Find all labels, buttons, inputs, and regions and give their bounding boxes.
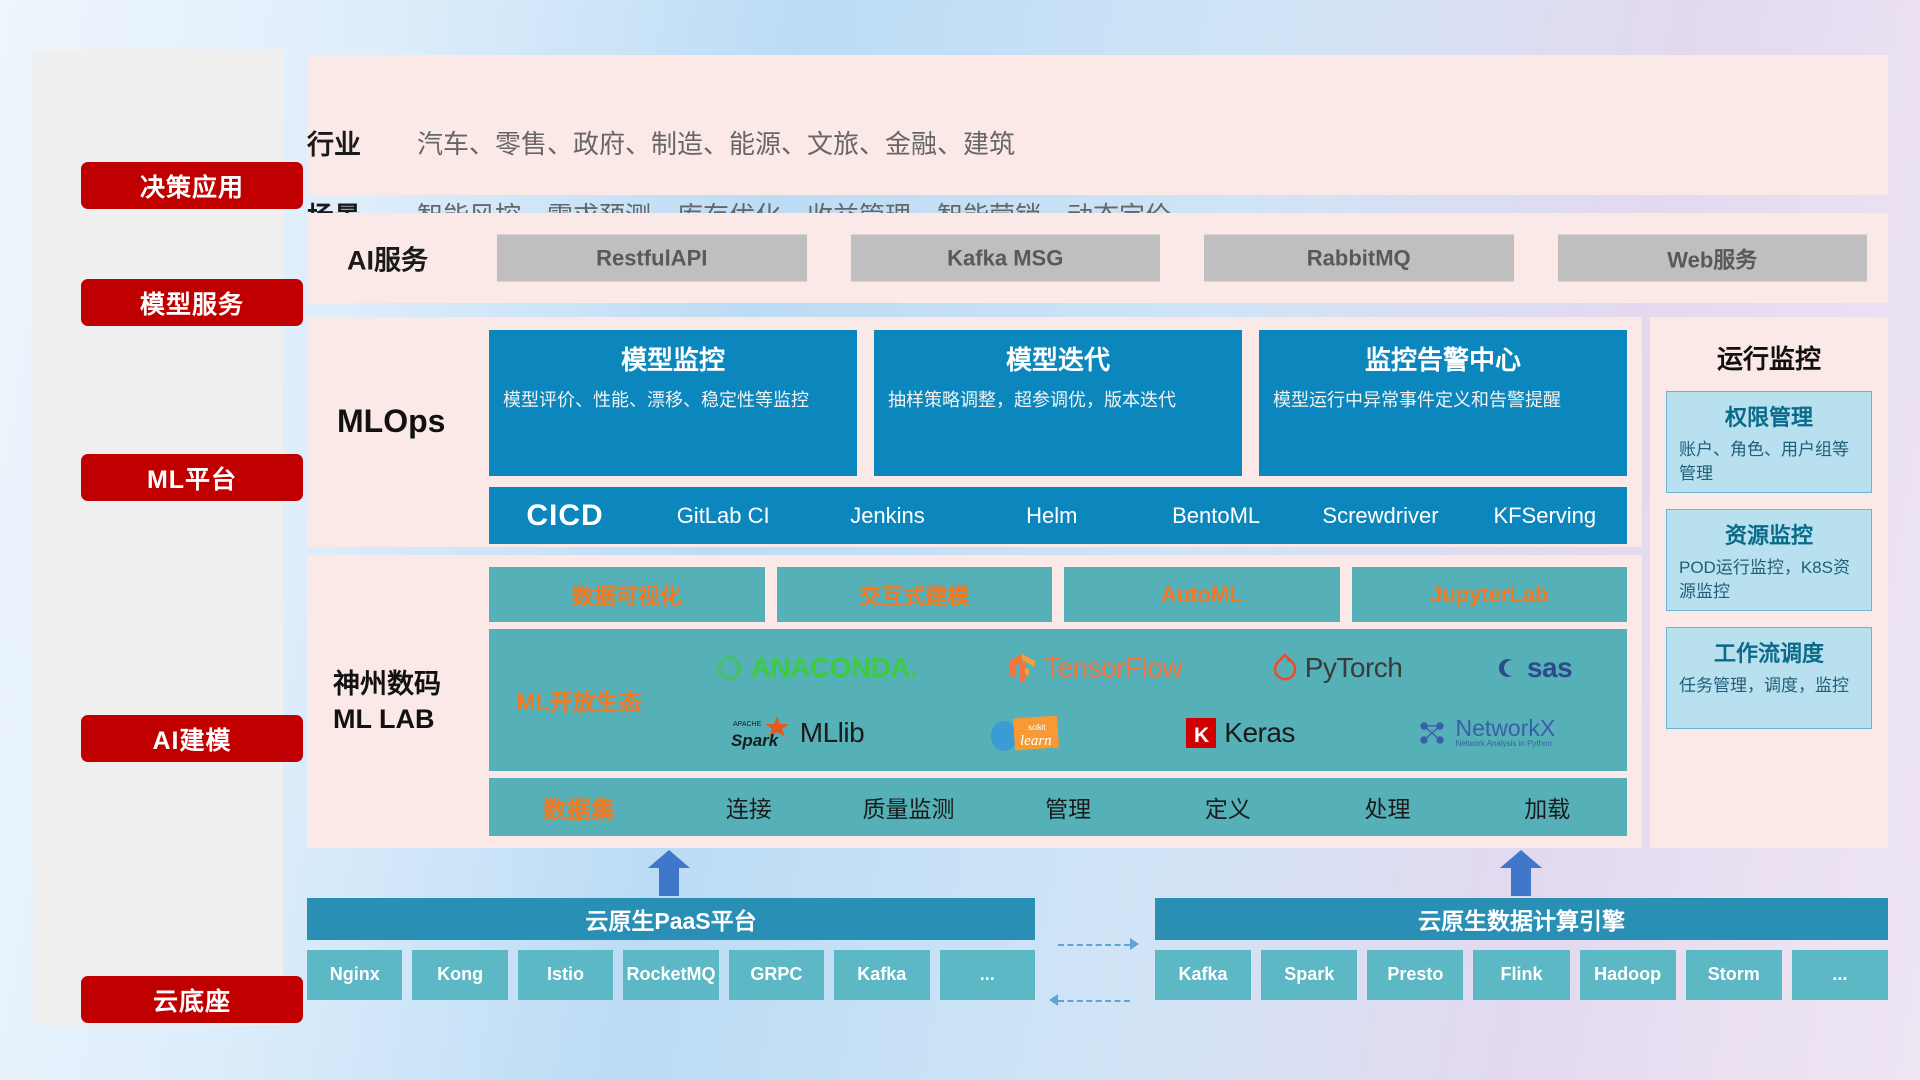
mllab-label-line2: ML LAB (333, 702, 483, 737)
cloud-chip-grpc[interactable]: GRPC (729, 950, 824, 1000)
dataset-item-load[interactable]: 加载 (1467, 790, 1627, 824)
card-title: 模型监控 (503, 340, 843, 377)
mlops-card-model-monitoring[interactable]: 模型监控 模型评价、性能、漂移、稳定性等监控 (489, 330, 857, 476)
cloud-chip-nginx[interactable]: Nginx (307, 950, 402, 1000)
card-desc: 任务管理，调度，监控 (1679, 674, 1859, 698)
card-desc: 账户、角色、用户组等管理 (1679, 438, 1859, 486)
sidebar-item-cloud-base[interactable]: 云底座 (81, 976, 303, 1023)
keras-logo: K Keras (1185, 717, 1295, 749)
card-title: 资源监控 (1679, 518, 1859, 550)
logo-label: NetworkX (1455, 717, 1555, 740)
anaconda-logo: ANACONDA. (714, 652, 918, 684)
card-desc: POD运行监控，K8S资源监控 (1679, 556, 1859, 604)
card-title: 工作流调度 (1679, 636, 1859, 668)
cloud-paas-title: 云原生PaaS平台 (307, 898, 1035, 940)
compute-chip-flink[interactable]: Flink (1473, 950, 1569, 1000)
cloud-chip-kong[interactable]: Kong (412, 950, 507, 1000)
dataset-item-process[interactable]: 处理 (1308, 790, 1468, 824)
ai-service-item-restfulapi[interactable]: RestfulAPI (497, 235, 807, 282)
cloud-chip-istio[interactable]: Istio (518, 950, 613, 1000)
tensorflow-logo: TensorFlow (1007, 652, 1182, 684)
svg-text:APACHE: APACHE (733, 721, 762, 728)
industry-label: 行业 (307, 123, 417, 162)
cicd-item-gitlab-ci[interactable]: GitLab CI (641, 502, 805, 530)
mlops-card-list: 模型监控 模型评价、性能、漂移、稳定性等监控 模型迭代 抽样策略调整，超参调优，… (489, 330, 1627, 476)
card-desc: 模型运行中异常事件定义和告警提醒 (1273, 388, 1613, 414)
cicd-item-screwdriver[interactable]: Screwdriver (1298, 502, 1462, 530)
compute-chip-hadoop[interactable]: Hadoop (1580, 950, 1676, 1000)
svg-text:learn: learn (1020, 733, 1052, 749)
mllab-tool-list: 数据可视化 交互式建模 AutoML JupyterLab (489, 567, 1627, 622)
sidebar-item-label: 云底座 (153, 982, 231, 1018)
sidebar-item-ai-modeling[interactable]: AI建模 (81, 715, 303, 762)
scikit-learn-logo: scikit learn (988, 714, 1062, 752)
mlops-label: MLOps (337, 403, 445, 440)
sidebar-item-label: 决策应用 (140, 168, 244, 204)
cicd-item-jenkins[interactable]: Jenkins (805, 502, 969, 530)
cicd-item-kfserving[interactable]: KFServing (1463, 502, 1627, 530)
up-arrow-right-icon (1500, 850, 1542, 896)
sidebar-item-decision-app[interactable]: 决策应用 (81, 162, 303, 209)
card-title: 模型迭代 (888, 340, 1228, 377)
card-desc: 抽样策略调整，超参调优，版本迭代 (888, 388, 1228, 414)
dataset-item-quality-monitoring[interactable]: 质量监测 (829, 790, 989, 824)
mllab-tool-jupyterlab[interactable]: JupyterLab (1352, 567, 1628, 622)
ai-service-label: AI服务 (347, 239, 428, 278)
ml-ecosystem-panel: ML开放生态 ANACONDA. TensorFlow PyTorch (489, 629, 1627, 771)
monitor-panel: 运行监控 权限管理 账户、角色、用户组等管理 资源监控 POD运行监控，K8S资… (1650, 317, 1888, 848)
compute-chip-more[interactable]: ... (1792, 950, 1888, 1000)
sidebar-item-label: 模型服务 (140, 285, 244, 321)
networkx-logo: NetworkX Network Analysis in Python (1418, 717, 1555, 748)
svg-text:K: K (1194, 724, 1209, 747)
svg-text:scikit: scikit (1028, 723, 1047, 732)
mllab-label: 神州数码 ML LAB (333, 667, 483, 736)
sidebar-item-label: AI建模 (152, 721, 231, 757)
industry-value: 汽车、零售、政府、制造、能源、文旅、金融、建筑 (417, 124, 1015, 161)
cloud-chip-more[interactable]: ... (940, 950, 1035, 1000)
logo-row-top: ANACONDA. TensorFlow PyTorch sas (669, 635, 1617, 700)
dashed-arrow-left-icon (1049, 994, 1058, 1006)
monitor-panel-title: 运行监控 (1650, 339, 1888, 376)
mllab-tool-interactive-modeling[interactable]: 交互式建模 (777, 567, 1053, 622)
ai-service-list: RestfulAPI Kafka MSG RabbitMQ Web服务 (497, 235, 1867, 282)
logo-label: TensorFlow (1044, 652, 1182, 684)
dashed-connector-right (1058, 944, 1130, 946)
monitor-card-workflow[interactable]: 工作流调度 任务管理，调度，监控 (1666, 627, 1872, 729)
logo-label: MLlib (800, 717, 864, 749)
ai-service-item-web[interactable]: Web服务 (1558, 235, 1868, 282)
monitor-card-resource[interactable]: 资源监控 POD运行监控，K8S资源监控 (1666, 509, 1872, 611)
compute-chip-spark[interactable]: Spark (1261, 950, 1357, 1000)
dataset-item-manage[interactable]: 管理 (988, 790, 1148, 824)
logo-sublabel: Network Analysis in Python (1455, 740, 1555, 748)
mllab-tool-data-visualization[interactable]: 数据可视化 (489, 567, 765, 622)
dataset-bar: 数据集 连接 质量监测 管理 定义 处理 加载 (489, 778, 1627, 836)
cicd-item-bentoml[interactable]: BentoML (1134, 502, 1298, 530)
ml-ecosystem-label: ML开放生态 (489, 683, 669, 717)
logo-label: PyTorch (1305, 652, 1403, 684)
mllab-row: 神州数码 ML LAB 数据可视化 交互式建模 AutoML JupyterLa… (307, 555, 1642, 848)
sas-logo: sas (1492, 652, 1572, 684)
card-desc: 模型评价、性能、漂移、稳定性等监控 (503, 388, 843, 414)
ml-ecosystem-logos: ANACONDA. TensorFlow PyTorch sas (669, 629, 1627, 771)
sidebar-item-label: ML平台 (147, 460, 237, 496)
compute-chip-storm[interactable]: Storm (1686, 950, 1782, 1000)
logo-row-bottom: APACHE Spark MLlib scikit learn (669, 700, 1617, 765)
cicd-item-helm[interactable]: Helm (970, 502, 1134, 530)
cicd-label: CICD (489, 499, 641, 533)
sidebar-item-ml-platform[interactable]: ML平台 (81, 454, 303, 501)
dashed-connector-left (1058, 1000, 1130, 1002)
cloud-paas-chip-list: Nginx Kong Istio RocketMQ GRPC Kafka ... (307, 950, 1035, 1000)
logo-label: Keras (1224, 717, 1295, 749)
ai-service-item-rabbitmq[interactable]: RabbitMQ (1204, 235, 1514, 282)
application-row: 行业 汽车、零售、政府、制造、能源、文旅、金融、建筑 场景 智能风控、需求预测、… (307, 55, 1888, 195)
up-arrow-left-icon (648, 850, 690, 896)
spark-mllib-logo: APACHE Spark MLlib (731, 715, 864, 751)
dataset-item-define[interactable]: 定义 (1148, 790, 1308, 824)
pytorch-logo: PyTorch (1272, 652, 1403, 684)
dataset-label: 数据集 (489, 790, 669, 825)
mlops-card-alert-center[interactable]: 监控告警中心 模型运行中异常事件定义和告警提醒 (1259, 330, 1627, 476)
cloud-compute-title: 云原生数据计算引擎 (1155, 898, 1888, 940)
ai-service-item-kafka-msg[interactable]: Kafka MSG (851, 235, 1161, 282)
dataset-item-connect[interactable]: 连接 (669, 790, 829, 824)
cloud-compute-chip-list: Kafka Spark Presto Flink Hadoop Storm ..… (1155, 950, 1888, 1000)
cloud-chip-rocketmq[interactable]: RocketMQ (623, 950, 718, 1000)
card-title: 权限管理 (1679, 400, 1859, 432)
sidebar-item-model-service[interactable]: 模型服务 (81, 279, 303, 326)
compute-chip-kafka[interactable]: Kafka (1155, 950, 1251, 1000)
compute-chip-presto[interactable]: Presto (1367, 950, 1463, 1000)
ai-service-row: AI服务 RestfulAPI Kafka MSG RabbitMQ Web服务 (307, 213, 1888, 303)
mllab-label-line1: 神州数码 (333, 667, 483, 702)
card-title: 监控告警中心 (1273, 340, 1613, 377)
architecture-diagram: 决策应用 模型服务 ML平台 AI建模 云底座 行业 汽车、零售、政府、制造、能… (0, 0, 1920, 1080)
cicd-bar: CICD GitLab CI Jenkins Helm BentoML Scre… (489, 487, 1627, 544)
dashed-arrow-right-icon (1130, 938, 1139, 950)
logo-label: ANACONDA. (751, 652, 918, 684)
layer-rail: 决策应用 模型服务 ML平台 AI建模 云底座 (33, 50, 283, 1025)
logo-label: sas (1527, 652, 1572, 684)
cloud-chip-kafka[interactable]: Kafka (834, 950, 929, 1000)
mlops-row: MLOps 模型监控 模型评价、性能、漂移、稳定性等监控 模型迭代 抽样策略调整… (307, 317, 1642, 547)
mllab-tool-automl[interactable]: AutoML (1064, 567, 1340, 622)
mlops-card-model-iteration[interactable]: 模型迭代 抽样策略调整，超参调优，版本迭代 (874, 330, 1242, 476)
svg-text:Spark: Spark (731, 731, 780, 750)
monitor-card-permission[interactable]: 权限管理 账户、角色、用户组等管理 (1666, 391, 1872, 493)
industry-line: 行业 汽车、零售、政府、制造、能源、文旅、金融、建筑 (307, 123, 1015, 162)
